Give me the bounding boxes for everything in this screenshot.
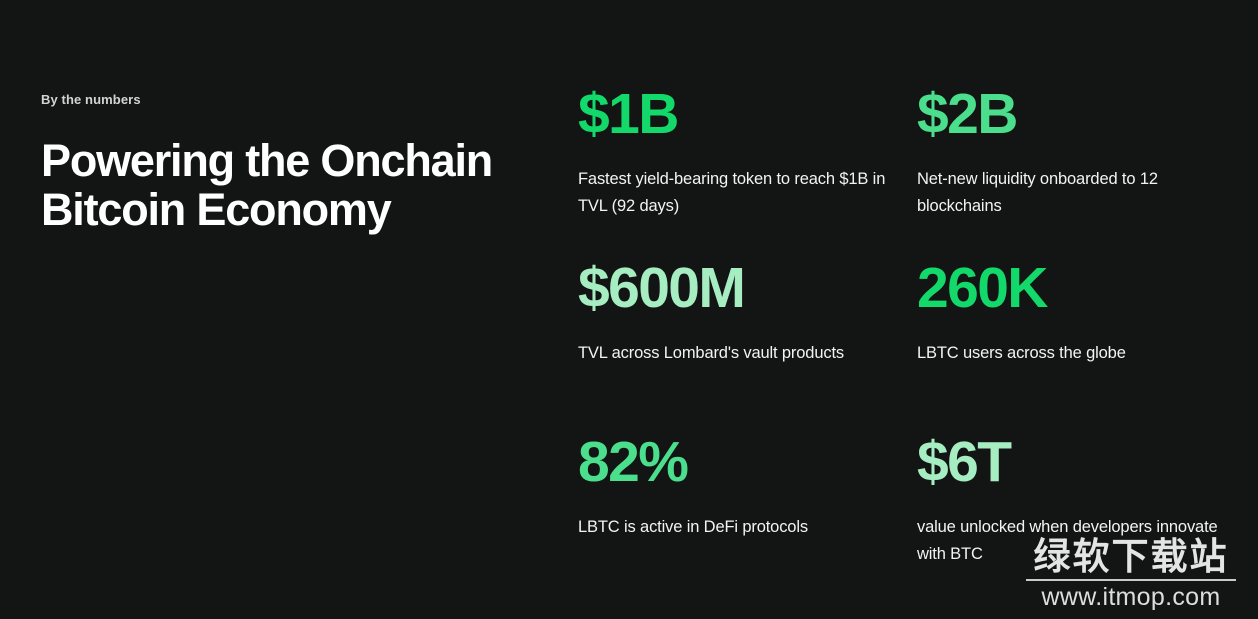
stat-value: $600M xyxy=(578,260,895,317)
stat-card: $1B Fastest yield-bearing token to reach… xyxy=(578,86,917,260)
stat-card: 82% LBTC is active in DeFi protocols xyxy=(578,434,917,608)
intro-section: By the numbers Powering the Onchain Bitc… xyxy=(41,92,561,234)
stat-description: LBTC is active in DeFi protocols xyxy=(578,514,895,541)
stat-value: $6T xyxy=(917,434,1236,491)
stat-description: Net-new liquidity onboarded to 12 blockc… xyxy=(917,166,1236,219)
stat-card: $2B Net-new liquidity onboarded to 12 bl… xyxy=(917,86,1258,260)
stat-value: 260K xyxy=(917,260,1236,317)
stat-description: value unlocked when developers innovate … xyxy=(917,514,1236,567)
stat-description: TVL across Lombard's vault products xyxy=(578,340,895,367)
stat-value: $1B xyxy=(578,86,895,143)
stat-value: 82% xyxy=(578,434,895,491)
page-title: Powering the Onchain Bitcoin Economy xyxy=(41,136,561,234)
stat-value: $2B xyxy=(917,86,1236,143)
stat-card: 260K LBTC users across the globe xyxy=(917,260,1258,434)
stat-description: LBTC users across the globe xyxy=(917,340,1236,367)
stats-page: By the numbers Powering the Onchain Bitc… xyxy=(0,0,1258,619)
stat-description: Fastest yield-bearing token to reach $1B… xyxy=(578,166,895,219)
stat-card: $6T value unlocked when developers innov… xyxy=(917,434,1258,608)
stats-grid: $1B Fastest yield-bearing token to reach… xyxy=(578,86,1258,608)
eyebrow-label: By the numbers xyxy=(41,92,561,108)
stat-card: $600M TVL across Lombard's vault product… xyxy=(578,260,917,434)
